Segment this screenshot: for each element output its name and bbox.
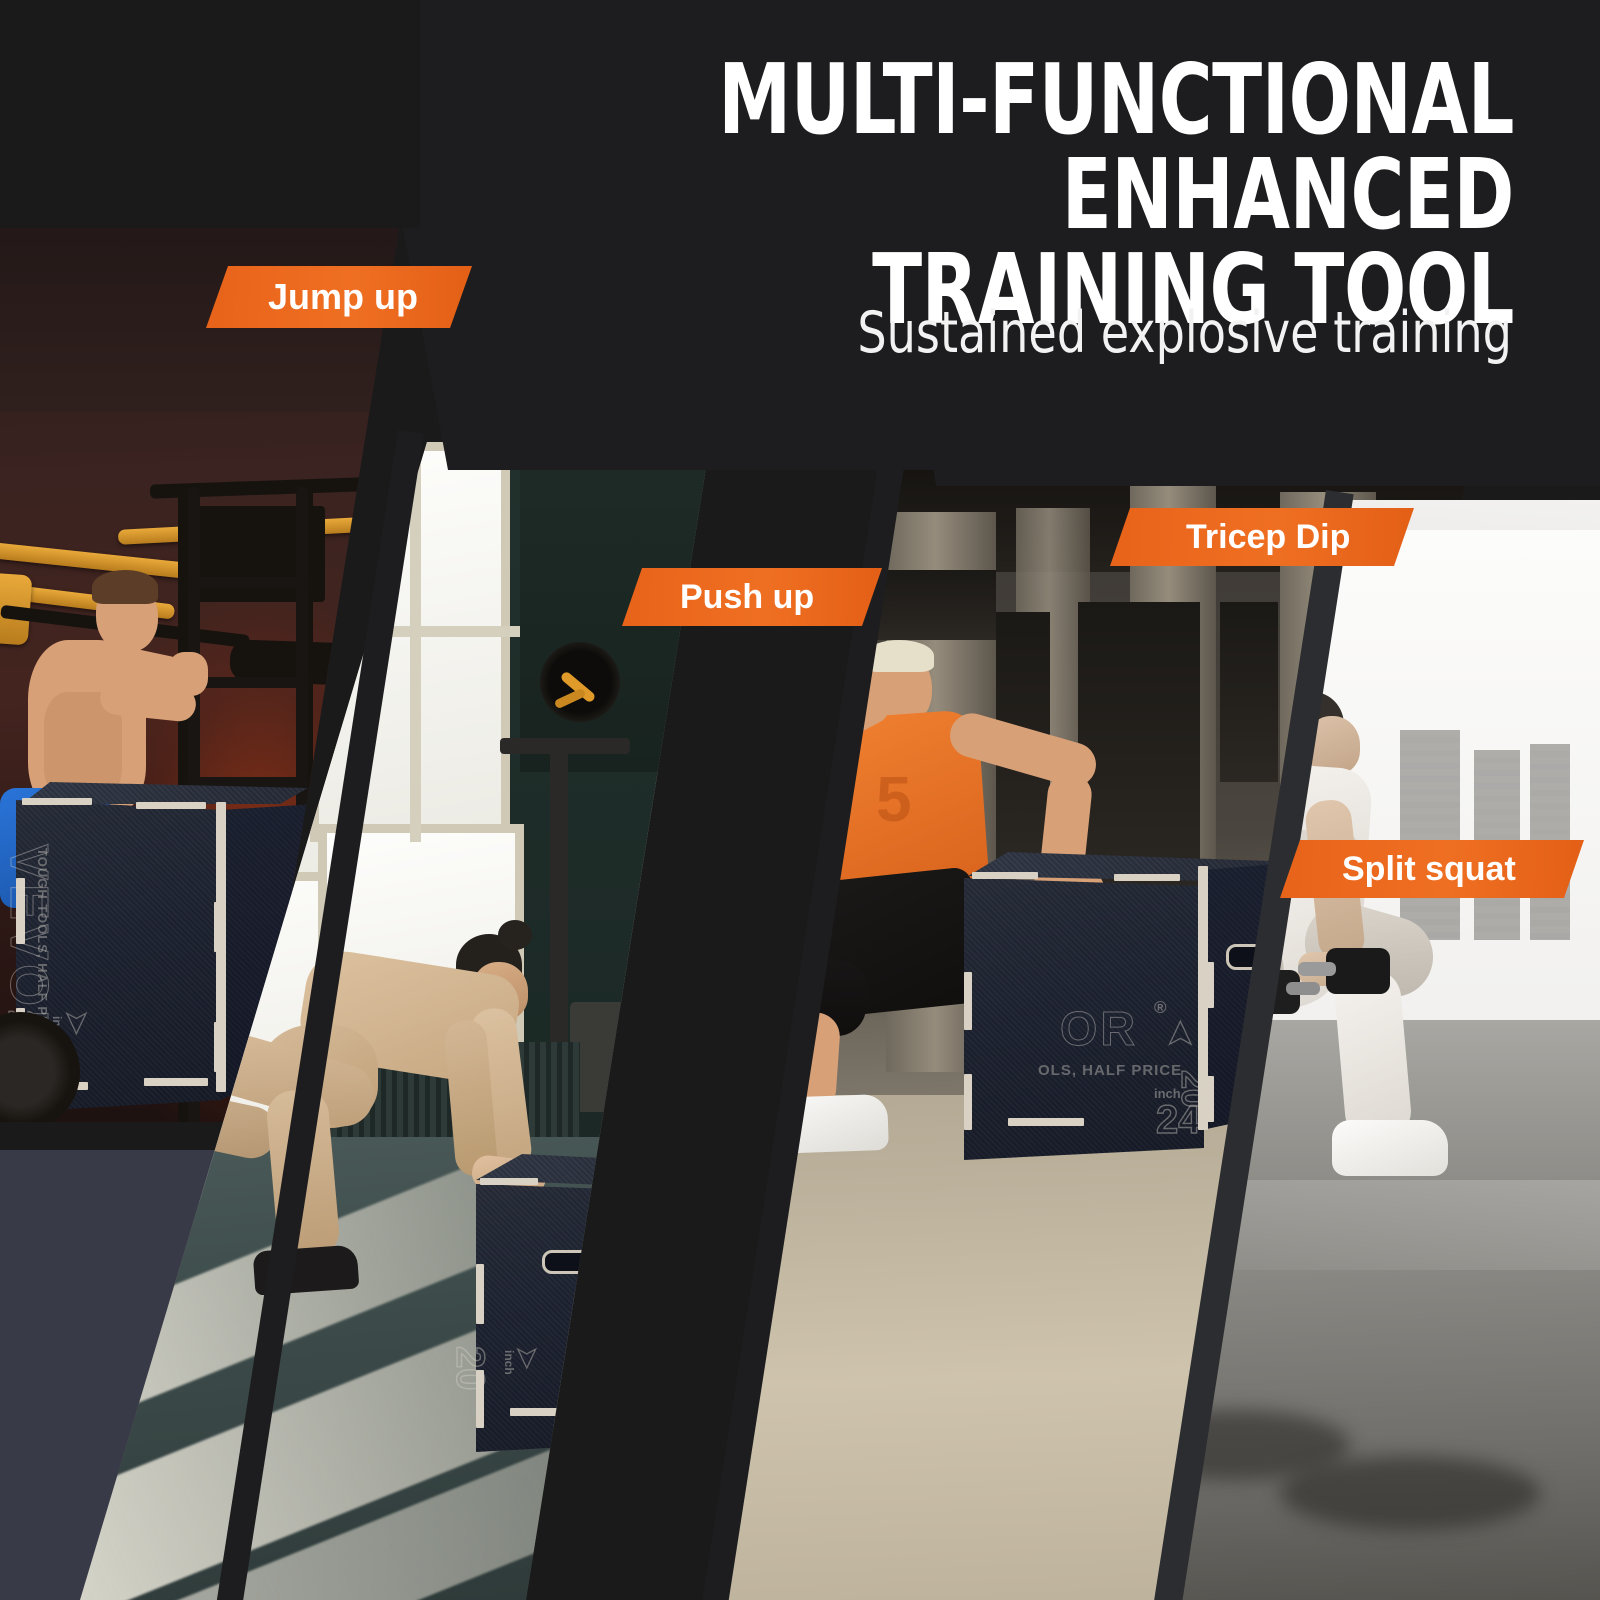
badge-push-up-label: Push up xyxy=(680,578,814,617)
top-left-mask xyxy=(0,0,420,228)
badge-jump-up[interactable]: Jump up xyxy=(206,266,472,328)
box-brand-logo-partial: OR xyxy=(1060,1002,1138,1057)
box-registered-mark: ® xyxy=(1154,998,1167,1018)
box-orientation-arrow-icon: ➤ xyxy=(511,1346,544,1369)
badge-push-up[interactable]: Push up xyxy=(622,568,882,626)
badge-jump-up-label: Jump up xyxy=(268,276,418,318)
badge-tricep-dip-label: Tricep Dip xyxy=(1186,518,1350,557)
badge-tricep-dip[interactable]: Tricep Dip xyxy=(1110,508,1414,566)
upper-right-mask xyxy=(860,0,1600,486)
badge-split-squat-label: Split squat xyxy=(1342,850,1516,889)
box-side-size-number: 20 xyxy=(1173,1070,1212,1108)
box-size-number: 20 xyxy=(447,1346,492,1391)
product-marketing-image: VEVOR TOUGH TOOLS, HALF PRICE 24 inch ➤ xyxy=(0,0,1600,1600)
plyo-box-20-inch-push: 20 inch ➤ xyxy=(476,1154,710,1454)
box-orientation-arrow-icon: ➤ xyxy=(1160,1020,1200,1049)
badge-split-squat[interactable]: Split squat xyxy=(1280,840,1584,898)
box-brand-tagline-partial: OLS, HALF PRICE xyxy=(1038,1062,1182,1079)
box-handle-cutout xyxy=(542,1250,616,1274)
